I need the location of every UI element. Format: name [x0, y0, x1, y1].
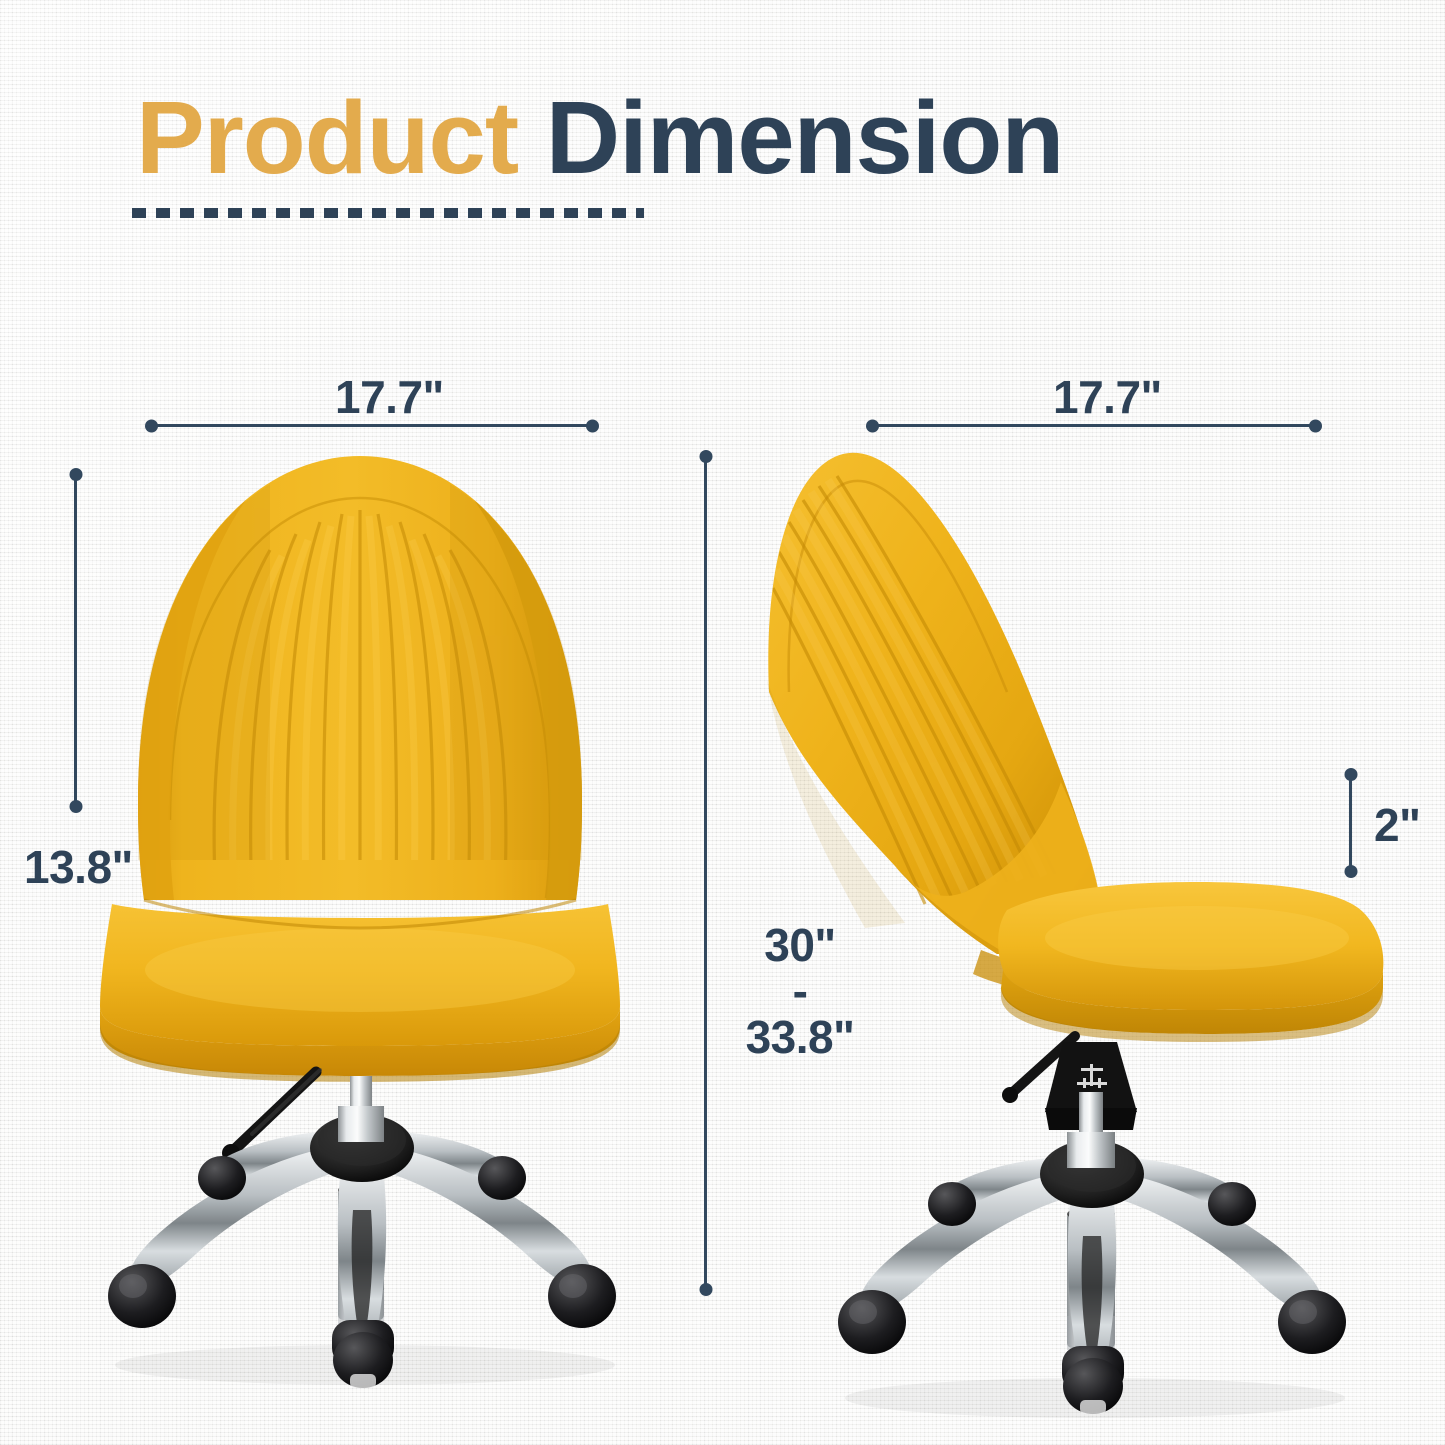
chair-front-view: [20, 430, 700, 1410]
overall-height-separator: -: [740, 968, 860, 1014]
caster-right-side: [1278, 1290, 1346, 1354]
page-title-dark-word: Dimension: [518, 80, 1063, 195]
page-title-accent-word: Product: [136, 80, 518, 195]
infographic-canvas: Product Dimension: [0, 0, 1445, 1445]
caster-back-left-side: [928, 1182, 976, 1226]
caster-right: [548, 1264, 616, 1328]
caster-back-left: [198, 1156, 246, 1200]
dimension-label-cushion-thickness: 2": [1374, 798, 1420, 852]
dimension-line-side-depth: [868, 424, 1320, 427]
caster-back-right-side: [1208, 1182, 1256, 1226]
caster-front-side: [1062, 1346, 1124, 1414]
dimension-line-cushion-thickness: [1349, 770, 1352, 876]
caster-left-side: [838, 1290, 906, 1354]
title-block: Product Dimension: [136, 84, 1063, 191]
overall-height-max: 30": [740, 922, 860, 968]
caster-front: [332, 1320, 394, 1388]
dimension-label-side-depth: 17.7": [1053, 370, 1162, 424]
dimension-label-front-width: 17.7": [335, 370, 444, 424]
page-title: Product Dimension: [136, 84, 1063, 191]
dimension-line-overall-height: [704, 452, 707, 1294]
chair-base-side: [860, 1132, 1321, 1372]
overall-height-min: 33.8": [740, 1014, 860, 1060]
dimension-line-seat-height: [74, 470, 77, 811]
dimension-line-front-width: [147, 424, 597, 427]
title-dashed-underline: [132, 208, 644, 218]
dimension-label-overall-height: 30" - 33.8": [740, 922, 860, 1060]
caster-left: [108, 1264, 176, 1328]
dimension-label-seat-height: 13.8": [24, 840, 133, 894]
chair-base: [130, 1106, 591, 1346]
caster-back-right: [478, 1156, 526, 1200]
